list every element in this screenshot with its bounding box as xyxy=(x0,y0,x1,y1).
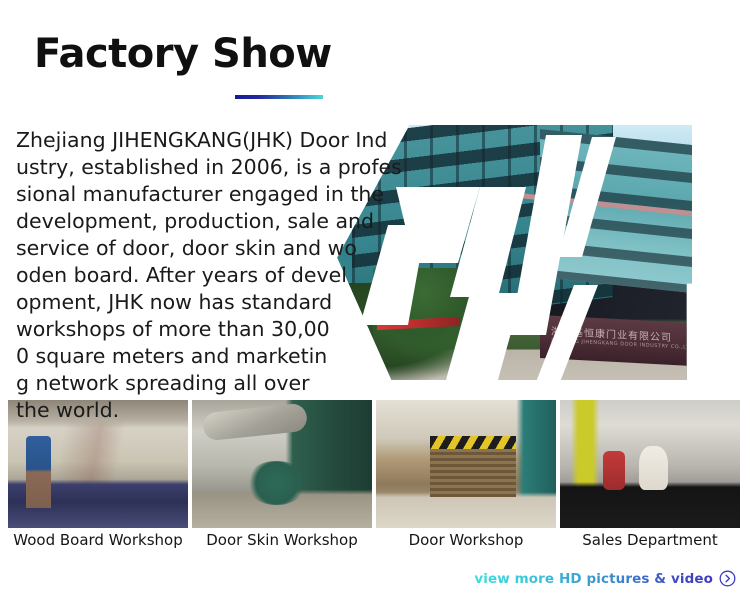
caption-wood-board-workshop: Wood Board Workshop xyxy=(8,530,188,550)
title-underline-rule xyxy=(235,95,323,99)
gallery-thumb-sales-department[interactable] xyxy=(560,400,740,528)
view-more-link[interactable]: view more HD pictures & video xyxy=(474,570,736,587)
view-more-link-label: view more HD pictures & video xyxy=(474,571,713,587)
caption-sales-department: Sales Department xyxy=(560,530,740,550)
company-intro-paragraph: Zhejiang JIHENGKANG(JHK) Door Ind ustry,… xyxy=(16,127,446,424)
caption-door-skin-workshop: Door Skin Workshop xyxy=(192,530,372,550)
page-title: Factory Show xyxy=(34,32,332,76)
factory-show-page: Factory Show Zhejiang JIHENGKANG(JHK) Do… xyxy=(0,0,750,613)
caption-door-workshop: Door Workshop xyxy=(376,530,556,550)
gallery-captions: Wood Board Workshop Door Skin Workshop D… xyxy=(8,530,742,550)
chevron-right-circle-icon xyxy=(719,570,736,587)
